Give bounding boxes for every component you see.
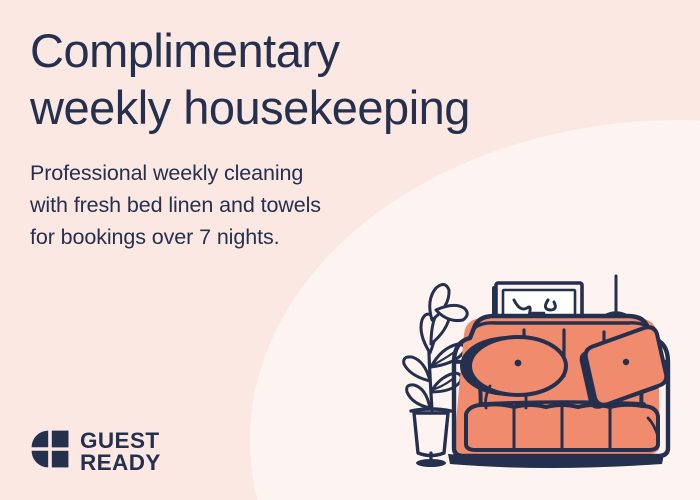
- brand-wordmark-line2: READY: [80, 452, 161, 474]
- brand-wordmark-line1: GUEST: [80, 430, 161, 452]
- guestready-quadrant-mark-icon: [31, 430, 69, 473]
- brand-logo: GUEST READY: [31, 430, 161, 474]
- page-subtitle: Professional weekly cleaning with fresh …: [30, 157, 630, 254]
- copy-block: Complimentary weekly housekeeping Profes…: [30, 22, 630, 253]
- brand-wordmark: GUEST READY: [80, 430, 161, 474]
- sofa: [448, 316, 668, 468]
- page-title: Complimentary weekly housekeeping: [30, 22, 630, 137]
- living-room-illustration: [396, 258, 696, 500]
- promo-banner: Complimentary weekly housekeeping Profes…: [0, 0, 700, 500]
